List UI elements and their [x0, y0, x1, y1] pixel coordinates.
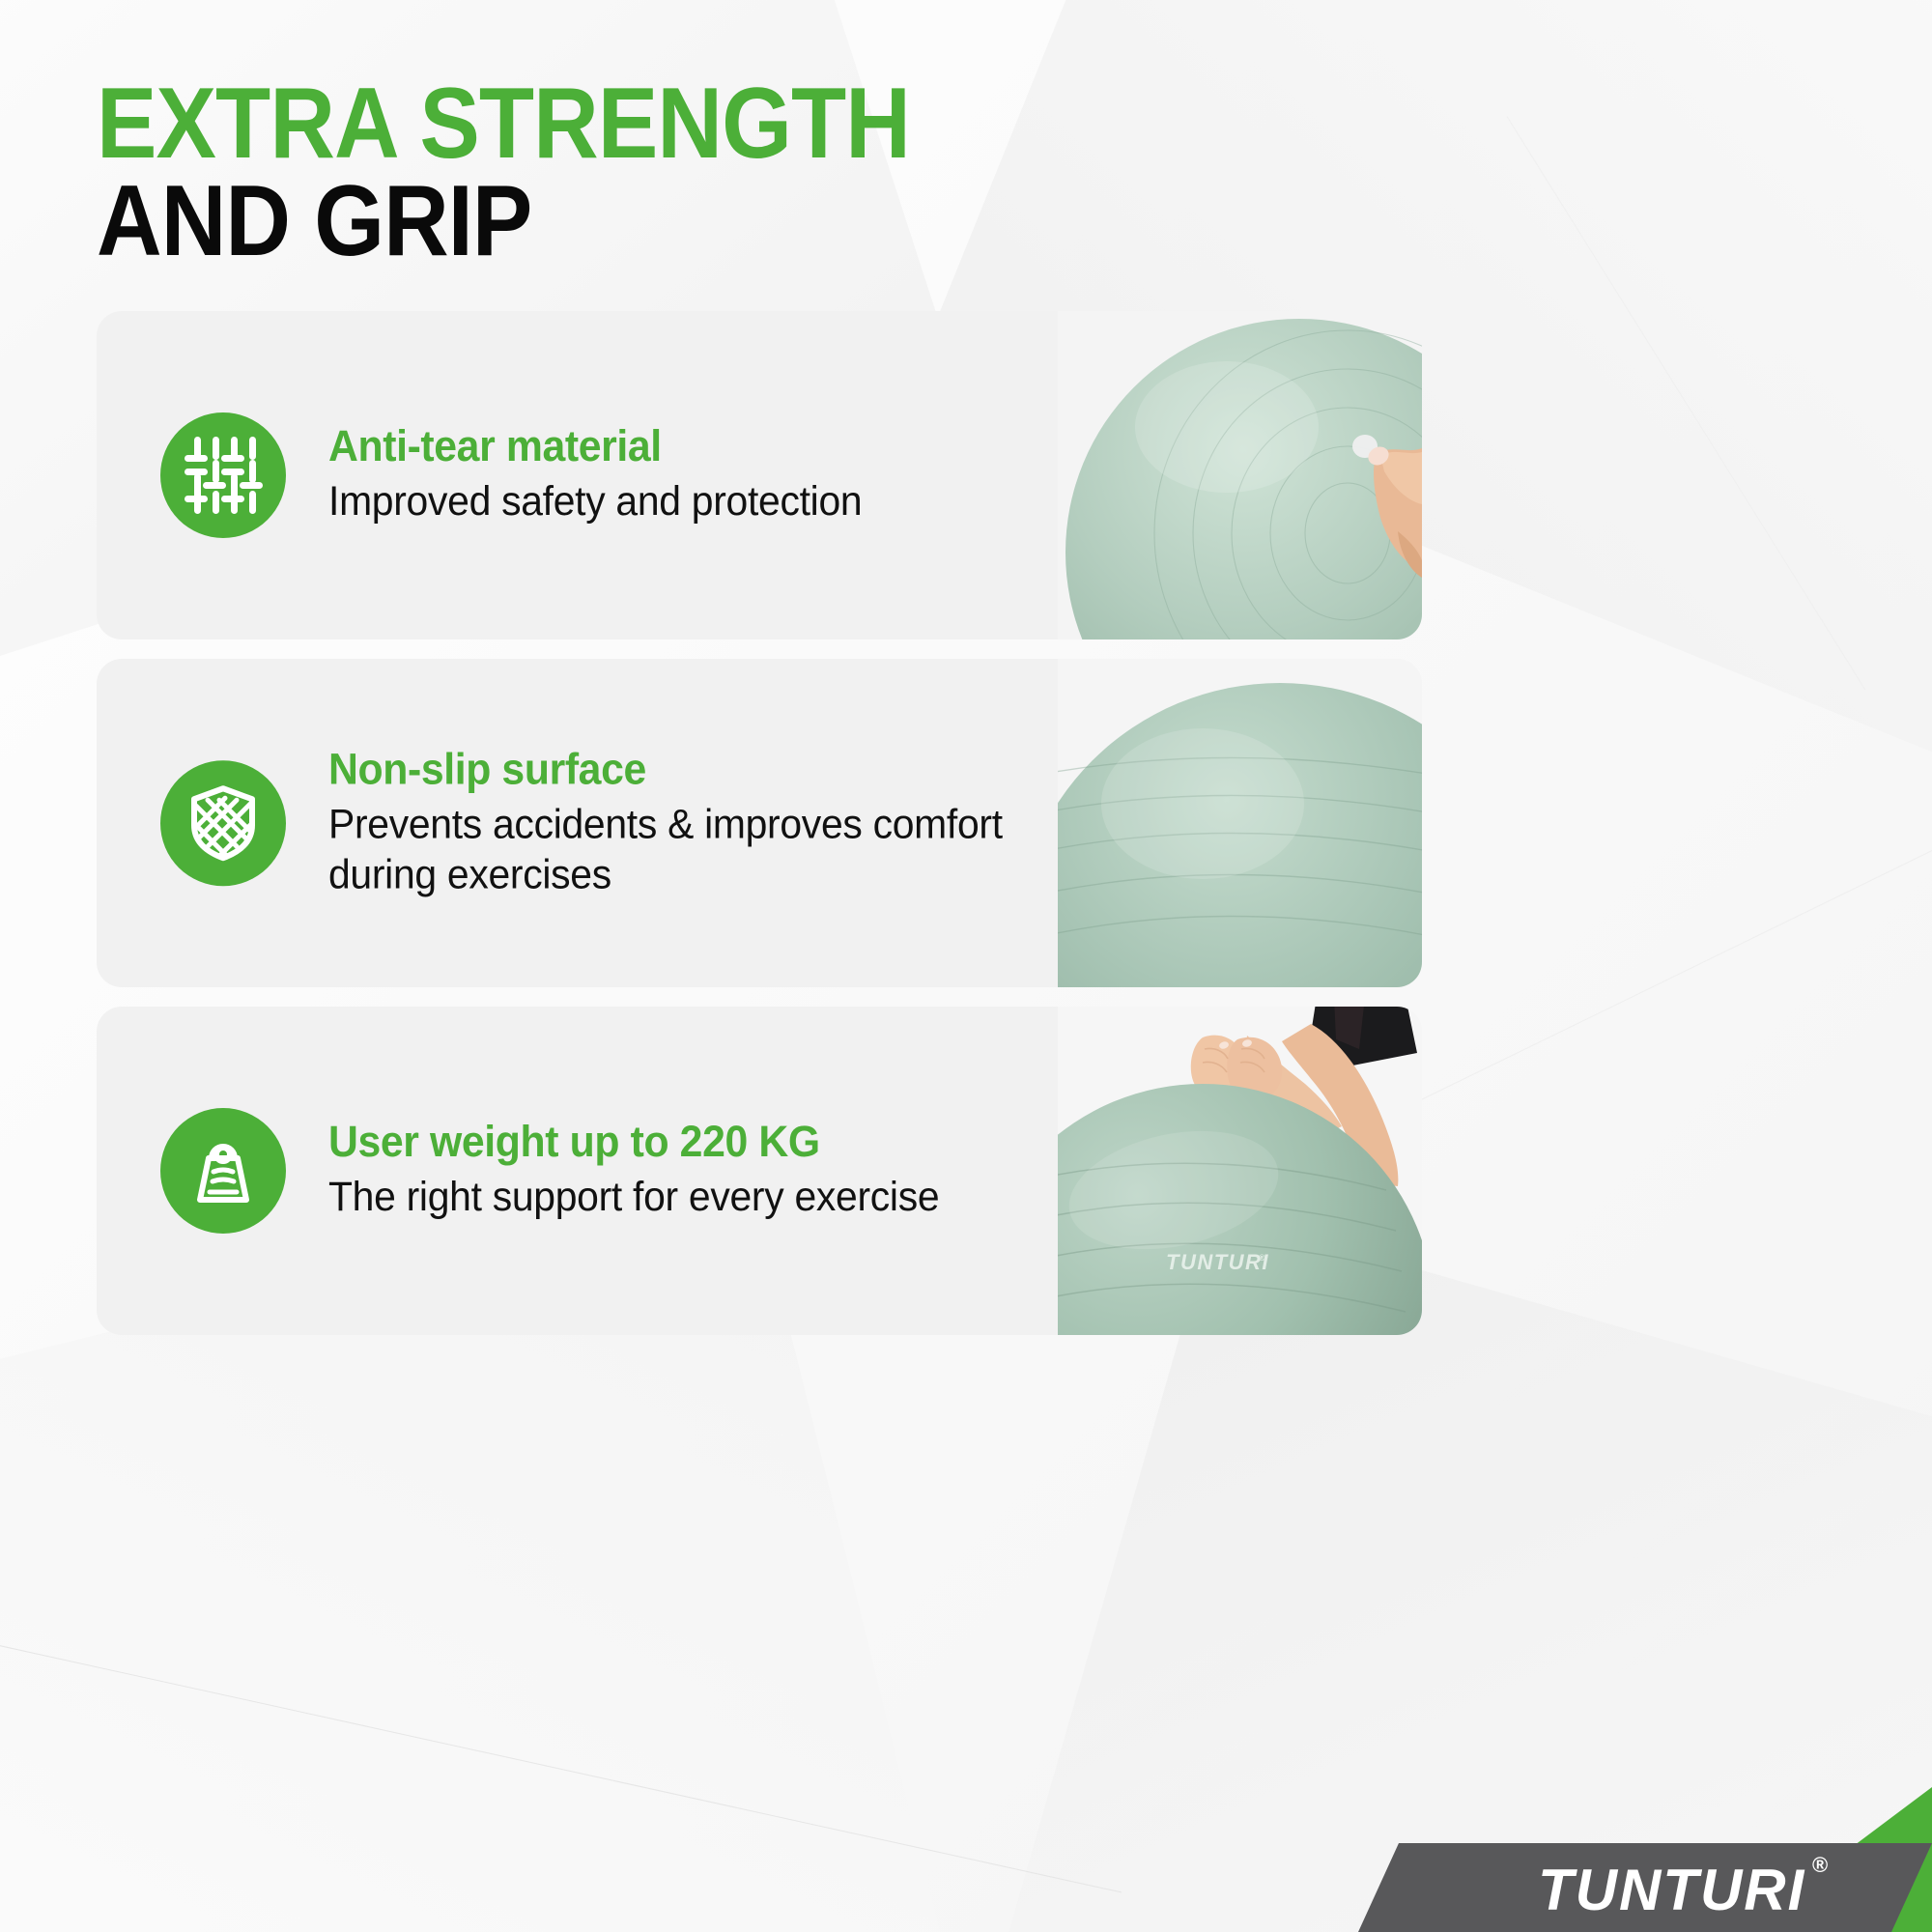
shield-lattice-icon: [160, 760, 286, 886]
feature-title: Anti-tear material: [328, 423, 1087, 470]
feature-title: User weight up to 220 KG: [328, 1119, 1087, 1166]
product-infographic-poster: EXTRA STRENGTH AND GRIP: [0, 0, 1932, 1932]
page-title: EXTRA STRENGTH AND GRIP: [97, 75, 1001, 270]
feature-card-text: Anti-tear material Improved safety and p…: [328, 423, 1126, 526]
feature-description: The right support for every exercise: [328, 1172, 1087, 1222]
weight-kettlebell-icon: [160, 1108, 286, 1234]
tunturi-logo: TUNTURI ®: [1198, 1787, 1932, 1932]
background-diagonal-line-c: [1507, 116, 1866, 690]
weave-mesh-icon: [160, 412, 286, 538]
feature-description: Improved safety and protection: [328, 476, 1087, 526]
feature-card-body: User weight up to 220 KG The right suppo…: [160, 1108, 1126, 1234]
feature-card-text: User weight up to 220 KG The right suppo…: [328, 1119, 1126, 1222]
exercise-ball-finger-press-photo: [1058, 311, 1422, 639]
logo-wordmark: TUNTURI: [1538, 1858, 1805, 1922]
page-title-line-2: AND GRIP: [97, 173, 910, 270]
exercise-ball-closeup-photo: [1058, 659, 1422, 987]
feature-card-body: Non-slip surface Prevents accidents & im…: [160, 746, 1126, 900]
ball-imprint-registered-mark: ®: [1259, 1253, 1265, 1263]
feature-card-text: Non-slip surface Prevents accidents & im…: [328, 746, 1126, 900]
person-leaning-on-ball-photo: TUNTURI ®: [1058, 1007, 1422, 1335]
page-title-line-1: EXTRA STRENGTH: [97, 75, 910, 173]
feature-description: Prevents accidents & improves comfort du…: [328, 799, 1081, 900]
logo-registered-mark: ®: [1812, 1853, 1828, 1877]
feature-title: Non-slip surface: [328, 746, 1087, 793]
background-diagonal-line-a: [0, 1633, 1122, 1892]
feature-card-body: Anti-tear material Improved safety and p…: [160, 412, 1126, 538]
ball-imprint-wordmark: TUNTURI: [1166, 1250, 1269, 1274]
